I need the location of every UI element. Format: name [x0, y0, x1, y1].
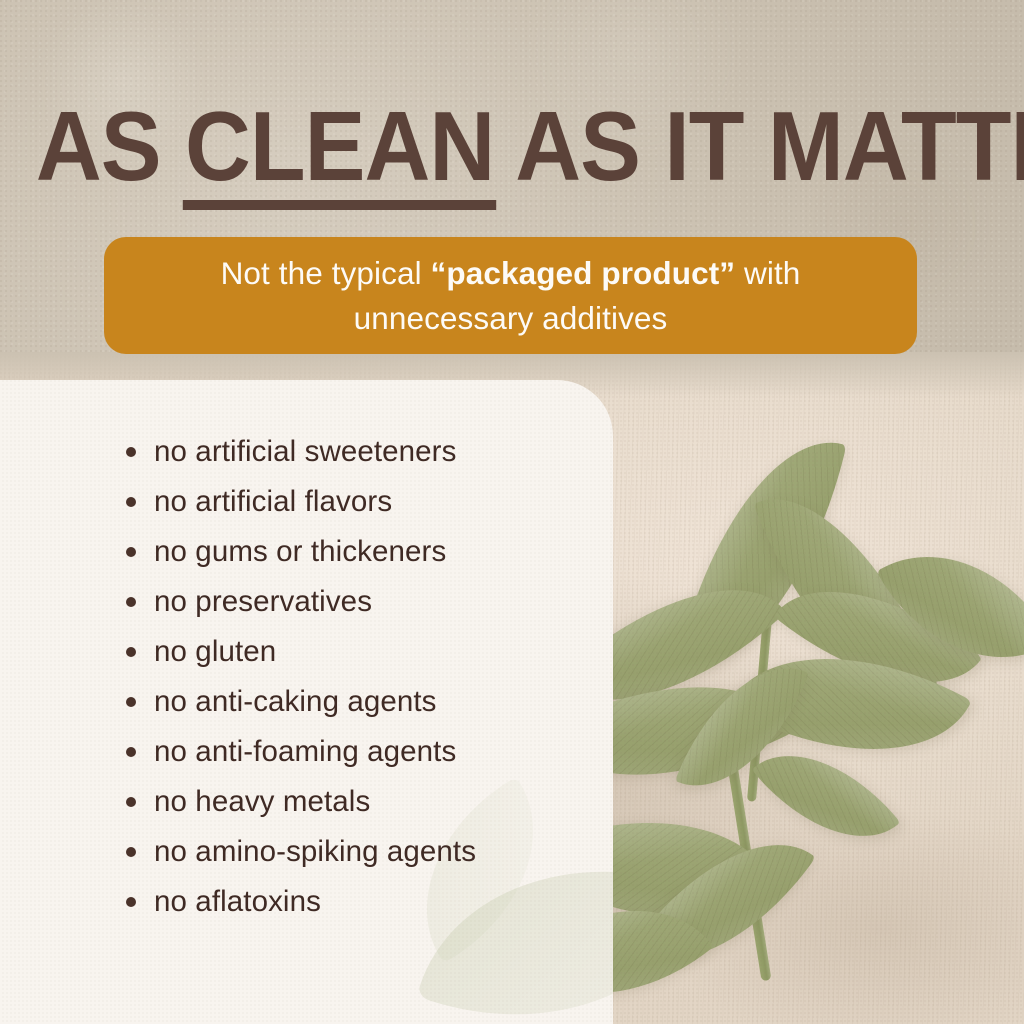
headline-emphasis-clean: CLEAN — [185, 96, 494, 196]
list-item-label: no anti-foaming agents — [154, 730, 456, 773]
list-item: no anti-foaming agents — [126, 730, 596, 780]
bullet-dot-icon — [126, 697, 136, 707]
bullet-dot-icon — [126, 897, 136, 907]
list-item-label: no artificial sweeteners — [154, 430, 456, 473]
list-item: no artificial sweeteners — [126, 430, 596, 480]
list-item: no anti-caking agents — [126, 680, 596, 730]
page-title: AS CLEAN AS IT MATTERS — [36, 96, 988, 196]
bullet-dot-icon — [126, 447, 136, 457]
banner-line-2: unnecessary additives — [354, 300, 668, 336]
list-item-label: no preservatives — [154, 580, 372, 623]
bullet-dot-icon — [126, 797, 136, 807]
list-item: no preservatives — [126, 580, 596, 630]
subtitle-banner-text: Not the typical “packaged product” withu… — [221, 251, 801, 341]
bullet-dot-icon — [126, 547, 136, 557]
list-item: no aflatoxins — [126, 880, 596, 930]
list-item-label: no artificial flavors — [154, 480, 392, 523]
bullet-dot-icon — [126, 497, 136, 507]
list-item: no gums or thickeners — [126, 530, 596, 580]
headline-part-1: AS — [36, 91, 185, 201]
subtitle-banner: Not the typical “packaged product” withu… — [104, 237, 917, 354]
banner-suffix: with — [735, 255, 800, 291]
ingredients-list: no artificial sweetenersno artificial fl… — [126, 430, 596, 930]
bullet-dot-icon — [126, 847, 136, 857]
bullet-dot-icon — [126, 747, 136, 757]
list-item-label: no amino-spiking agents — [154, 830, 476, 873]
list-item: no amino-spiking agents — [126, 830, 596, 880]
list-item: no artificial flavors — [126, 480, 596, 530]
list-item-label: no anti-caking agents — [154, 680, 437, 723]
list-item: no heavy metals — [126, 780, 596, 830]
list-item-label: no aflatoxins — [154, 880, 321, 923]
list-item-label: no gluten — [154, 630, 276, 673]
bullet-dot-icon — [126, 647, 136, 657]
banner-quoted-phrase: “packaged product” — [431, 255, 736, 291]
bullet-dot-icon — [126, 597, 136, 607]
headline-part-2: AS IT MATTERS — [494, 91, 1024, 201]
list-item-label: no heavy metals — [154, 780, 370, 823]
poster-canvas: AS CLEAN AS IT MATTERS Not the typical “… — [0, 0, 1024, 1024]
banner-prefix: Not the typical — [221, 255, 431, 291]
list-item: no gluten — [126, 630, 596, 680]
list-item-label: no gums or thickeners — [154, 530, 446, 573]
